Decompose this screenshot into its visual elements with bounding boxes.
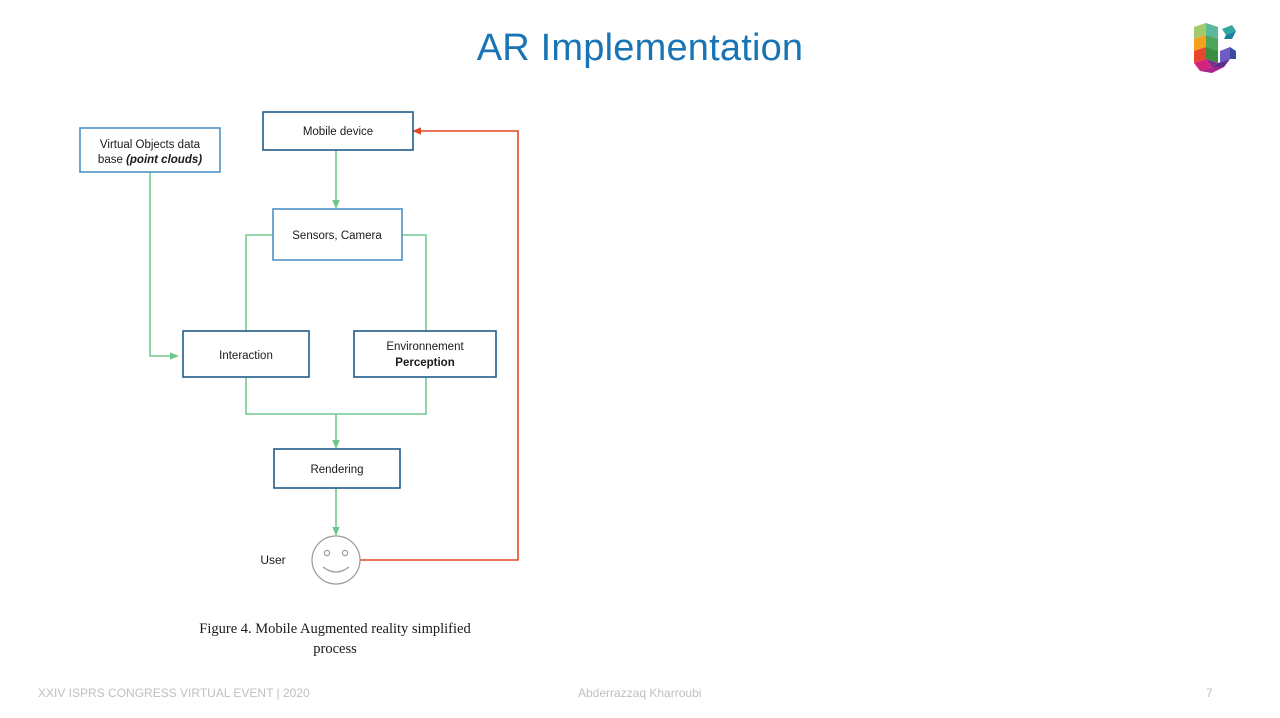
university-logo-icon (1186, 17, 1238, 75)
user-eye-right-icon (342, 550, 347, 555)
node-sensors-camera[interactable]: Sensors, Camera (273, 209, 402, 260)
node-environment-perception-line2: Perception (395, 357, 454, 369)
node-virtual-objects-line2-plain: base (98, 154, 126, 166)
node-mobile-device-label: Mobile device (303, 126, 373, 138)
node-interaction-label: Interaction (219, 350, 273, 362)
node-user-label: User (260, 553, 285, 567)
node-rendering-label: Rendering (310, 464, 363, 476)
edge-interaction-to-merge (246, 377, 336, 414)
node-user[interactable]: User (260, 536, 360, 584)
node-environment-perception-line1: Environnement (386, 341, 464, 353)
user-eye-left-icon (324, 550, 329, 555)
figure-caption-line2: process (140, 640, 530, 660)
edge-virtualobjects-to-interaction (150, 172, 178, 356)
node-virtual-objects-line2-italic: (point clouds) (126, 154, 202, 166)
footer-event-label: XXIV ISPRS CONGRESS VIRTUAL EVENT | 2020 (38, 686, 310, 700)
svg-text:base (point clouds): base (point clouds) (98, 154, 202, 166)
ar-process-diagram: Virtual Objects data base (point clouds)… (55, 98, 555, 598)
user-face-icon (312, 536, 360, 584)
figure-caption-line1: Figure 4. Mobile Augmented reality simpl… (140, 620, 530, 640)
edge-environment-to-merge (336, 377, 426, 414)
node-virtual-objects-database[interactable]: Virtual Objects data base (point clouds) (80, 128, 220, 172)
node-virtual-objects-line1: Virtual Objects data (100, 139, 201, 151)
node-sensors-camera-label: Sensors, Camera (292, 230, 382, 242)
footer-page-number: 7 (1206, 686, 1213, 700)
footer-author-label: Abderrazzaq Kharroubi (578, 686, 701, 700)
node-interaction[interactable]: Interaction (183, 331, 309, 377)
user-smile-icon (323, 567, 349, 572)
node-environment-perception[interactable]: Environnement Perception (354, 331, 496, 377)
node-mobile-device[interactable]: Mobile device (263, 112, 413, 150)
figure-caption: Figure 4. Mobile Augmented reality simpl… (140, 620, 530, 659)
page-title: AR Implementation (0, 28, 1280, 70)
university-logo (1186, 17, 1238, 75)
node-rendering[interactable]: Rendering (274, 449, 400, 488)
